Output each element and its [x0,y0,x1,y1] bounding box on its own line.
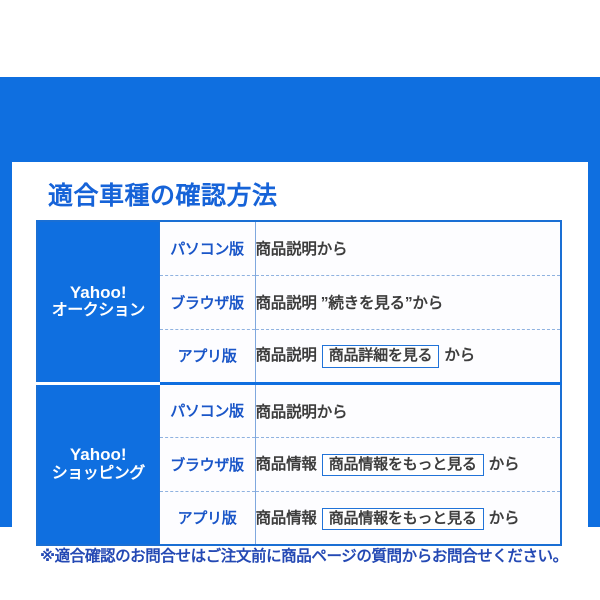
description-text: 商品情報 [256,510,317,527]
description-text-suffix: から [489,456,520,473]
boxed-button-label[interactable]: 商品情報をもっと見る [322,508,484,530]
table-row: Yahoo! オークション パソコン版 商品説明から [37,221,561,275]
page-title: 適合車種の確認方法 [48,176,278,212]
boxed-button-label[interactable]: 商品情報をもっと見る [322,454,484,476]
description-text: 商品説明 ”続きを見る”から [256,295,444,312]
boxed-button-label[interactable]: 商品詳細を見る [322,345,440,367]
description-text: 商品説明から [256,241,348,258]
description-text-suffix: から [444,347,475,364]
brand-line1: Yahoo! [38,283,159,303]
brand-line1: Yahoo! [38,445,159,465]
brand-cell-shopping: Yahoo! ショッピング [37,383,159,545]
brand-line2: オークション [38,302,159,320]
device-label-pc: パソコン版 [159,383,255,437]
description-cell: 商品説明商品詳細を見るから [255,329,561,383]
device-label-pc: パソコン版 [159,221,255,275]
blue-banner: 適合車種の確認方法 Yahoo! オークション パソコン版 商品説明から ブラウ… [0,77,600,527]
table-row: Yahoo! ショッピング パソコン版 商品説明から [37,383,561,437]
compatibility-table: Yahoo! オークション パソコン版 商品説明から ブラウザ版 商品説明 ”続… [36,220,562,546]
device-label-browser: ブラウザ版 [159,437,255,491]
description-text: 商品説明 [256,347,317,364]
brand-cell-auction: Yahoo! オークション [37,221,159,383]
description-cell: 商品説明から [255,383,561,437]
brand-line2: ショッピング [38,465,159,483]
description-cell: 商品説明から [255,221,561,275]
description-text-suffix: から [489,510,520,527]
info-card: 適合車種の確認方法 Yahoo! オークション パソコン版 商品説明から ブラウ… [12,162,588,596]
description-text: 商品情報 [256,456,317,473]
description-cell: 商品説明 ”続きを見る”から [255,275,561,329]
device-label-browser: ブラウザ版 [159,275,255,329]
description-cell: 商品情報商品情報をもっと見るから [255,491,561,545]
device-label-app: アプリ版 [159,329,255,383]
device-label-app: アプリ版 [159,491,255,545]
description-text: 商品説明から [256,404,348,421]
page-root: 適合車種の確認方法 Yahoo! オークション パソコン版 商品説明から ブラウ… [0,0,600,600]
footnote: ※適合確認のお問合せはご注文前に商品ページの質問からお問合せください。 [40,544,568,566]
description-cell: 商品情報商品情報をもっと見るから [255,437,561,491]
